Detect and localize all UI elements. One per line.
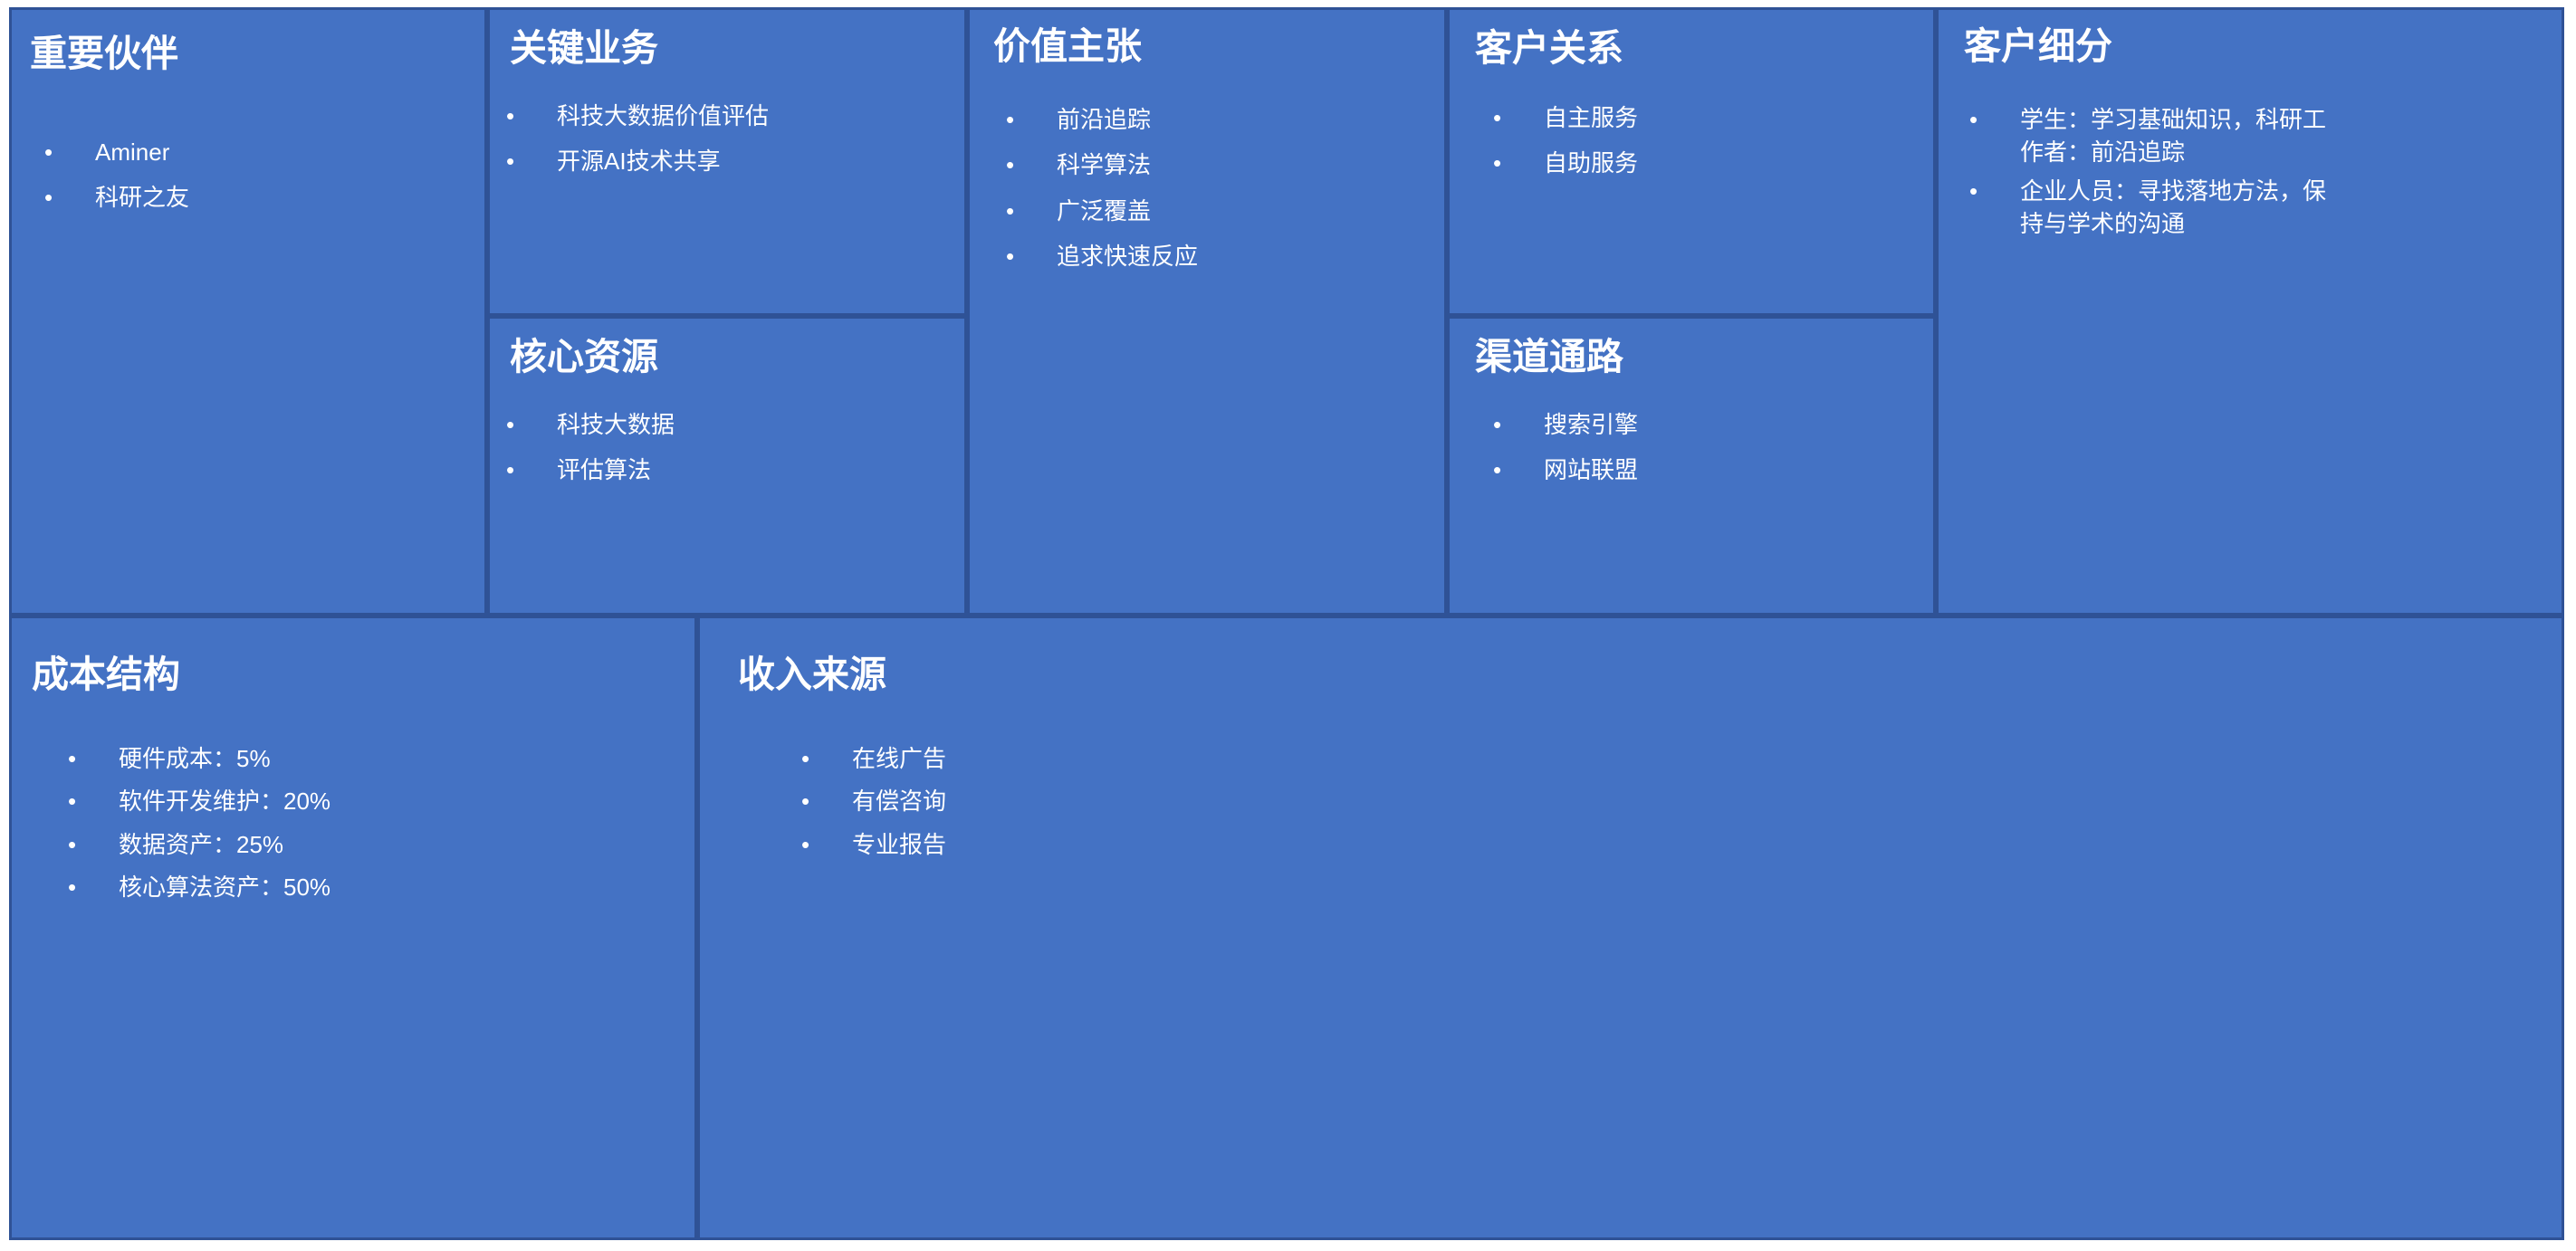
bullet-point-icon: • — [506, 408, 557, 441]
bullet-point-icon: • — [506, 145, 557, 177]
block-channels[interactable]: 渠道通路 • 搜索引擎 • 网站联盟 — [1447, 316, 1936, 616]
list-item-label: 广泛覆盖 — [1057, 195, 1422, 227]
block-key-activities[interactable]: 关键业务 • 科技大数据价值评估 • 开源AI技术共享 — [487, 7, 967, 316]
block-title-customer-segments: 客户细分 — [1964, 26, 2562, 67]
list-item-label: 追求快速反应 — [1057, 240, 1422, 272]
list-item: • 科技大数据价值评估 — [506, 100, 959, 132]
list-item: • 科学算法 — [1006, 148, 1422, 181]
list-item: • 前沿追踪 — [1006, 103, 1422, 136]
list-item: • 追求快速反应 — [1006, 240, 1422, 272]
list-item: • 科技大数据 — [506, 408, 959, 441]
bullet-point-icon: • — [1493, 408, 1544, 441]
bullet-point-icon: • — [68, 828, 119, 861]
list-item: • 评估算法 — [506, 454, 959, 486]
bullet-point-icon: • — [1006, 148, 1057, 181]
list-item-label: 前沿追踪 — [1057, 103, 1422, 136]
list-item-label: 在线广告 — [852, 742, 1381, 775]
list-item-label: 网站联盟 — [1544, 454, 1919, 486]
list-item: • 有偿咨询 — [801, 785, 1381, 817]
list-item-label: 数据资产：25% — [119, 828, 647, 861]
list-item: • 硬件成本：5% — [68, 742, 647, 775]
list-item-label: 科技大数据价值评估 — [557, 100, 959, 132]
list-item-label: 搜索引擎 — [1544, 408, 1919, 441]
bullet-point-icon: • — [68, 785, 119, 817]
bullet-point-icon: • — [1969, 175, 2020, 207]
bullet-list-revenue-streams: • 在线广告 • 有偿咨询 • 专业报告 — [801, 742, 1381, 861]
list-item: • 企业人员：寻找落地方法，保持与学术的沟通 — [1969, 175, 2332, 241]
list-item-label: 硬件成本：5% — [119, 742, 647, 775]
bullet-point-icon: • — [1493, 101, 1544, 134]
block-revenue-streams[interactable]: 收入来源 • 在线广告 • 有偿咨询 • 专业报告 — [697, 616, 2564, 1240]
block-key-resources[interactable]: 核心资源 • 科技大数据 • 评估算法 — [487, 316, 967, 616]
bullet-point-icon: • — [801, 742, 852, 775]
list-item: • 网站联盟 — [1493, 454, 1919, 486]
list-item: • 数据资产：25% — [68, 828, 647, 861]
list-item: • Aminer — [44, 136, 452, 168]
block-title-key-activities: 关键业务 — [510, 28, 964, 69]
list-item: • 在线广告 — [801, 742, 1381, 775]
list-item-label: 科学算法 — [1057, 148, 1422, 181]
list-item-label: 科研之友 — [95, 181, 452, 214]
list-item-label: 自主服务 — [1544, 101, 1919, 134]
bullet-point-icon: • — [506, 100, 557, 132]
list-item-label: 软件开发维护：20% — [119, 785, 647, 817]
list-item-label: 开源AI技术共享 — [557, 145, 959, 177]
list-item: • 自助服务 — [1493, 147, 1919, 179]
bullet-point-icon: • — [1493, 454, 1544, 486]
bullet-list-customer-segments: • 学生：学习基础知识，科研工作者：前沿追踪 • 企业人员：寻找落地方法，保持与… — [1969, 103, 2332, 241]
bullet-point-icon: • — [44, 181, 95, 214]
bullet-list-cost-structure: • 硬件成本：5% • 软件开发维护：20% • 数据资产：25% • 核心算法… — [68, 742, 647, 904]
list-item: • 自主服务 — [1493, 101, 1919, 134]
block-title-key-partners: 重要伙伴 — [30, 33, 484, 74]
list-item: • 科研之友 — [44, 181, 452, 214]
block-title-customer-relationships: 客户关系 — [1475, 28, 1933, 69]
bullet-point-icon: • — [801, 785, 852, 817]
bullet-list-key-partners: • Aminer • 科研之友 — [44, 136, 452, 215]
list-item-label: Aminer — [95, 136, 452, 168]
bullet-point-icon: • — [506, 454, 557, 486]
bullet-point-icon: • — [1006, 103, 1057, 136]
bullet-list-value-propositions: • 前沿追踪 • 科学算法 • 广泛覆盖 • 追求快速反应 — [1006, 103, 1422, 273]
bullet-point-icon: • — [1493, 147, 1544, 179]
block-customer-relationships[interactable]: 客户关系 • 自主服务 • 自助服务 — [1447, 7, 1936, 316]
block-title-revenue-streams: 收入来源 — [738, 654, 2562, 695]
bullet-list-key-resources: • 科技大数据 • 评估算法 — [506, 408, 959, 487]
list-item: • 专业报告 — [801, 828, 1381, 861]
list-item: • 搜索引擎 — [1493, 408, 1919, 441]
bullet-point-icon: • — [1006, 240, 1057, 272]
list-item: • 学生：学习基础知识，科研工作者：前沿追踪 — [1969, 103, 2332, 169]
bullet-list-channels: • 搜索引擎 • 网站联盟 — [1493, 408, 1919, 487]
list-item-label: 企业人员：寻找落地方法，保持与学术的沟通 — [2020, 175, 2332, 241]
block-title-channels: 渠道通路 — [1475, 337, 1933, 377]
list-item-label: 学生：学习基础知识，科研工作者：前沿追踪 — [2020, 103, 2332, 169]
list-item-label: 专业报告 — [852, 828, 1381, 861]
list-item-label: 有偿咨询 — [852, 785, 1381, 817]
list-item: • 核心算法资产：50% — [68, 871, 647, 903]
list-item-label: 科技大数据 — [557, 408, 959, 441]
bullet-point-icon: • — [1969, 103, 2020, 136]
block-value-propositions[interactable]: 价值主张 • 前沿追踪 • 科学算法 • 广泛覆盖 • 追求快速反应 — [967, 7, 1447, 616]
block-title-cost-structure: 成本结构 — [32, 654, 694, 695]
block-title-value-propositions: 价值主张 — [993, 26, 1444, 67]
bullet-point-icon: • — [1006, 195, 1057, 227]
block-customer-segments[interactable]: 客户细分 • 学生：学习基础知识，科研工作者：前沿追踪 • 企业人员：寻找落地方… — [1936, 7, 2564, 616]
bullet-list-customer-relationships: • 自主服务 • 自助服务 — [1493, 101, 1919, 180]
list-item-label: 核心算法资产：50% — [119, 871, 647, 903]
block-title-key-resources: 核心资源 — [510, 337, 964, 377]
bullet-point-icon: • — [68, 871, 119, 903]
bullet-point-icon: • — [44, 136, 95, 168]
list-item: • 广泛覆盖 — [1006, 195, 1422, 227]
block-key-partners[interactable]: 重要伙伴 • Aminer • 科研之友 — [9, 7, 487, 616]
business-model-canvas: 重要伙伴 • Aminer • 科研之友 关键业务 • 科技大数据价值评估 • … — [9, 7, 2564, 1240]
list-item: • 开源AI技术共享 — [506, 145, 959, 177]
list-item-label: 评估算法 — [557, 454, 959, 486]
list-item: • 软件开发维护：20% — [68, 785, 647, 817]
bullet-point-icon: • — [68, 742, 119, 775]
block-cost-structure[interactable]: 成本结构 • 硬件成本：5% • 软件开发维护：20% • 数据资产：25% •… — [9, 616, 697, 1240]
list-item-label: 自助服务 — [1544, 147, 1919, 179]
bullet-point-icon: • — [801, 828, 852, 861]
bullet-list-key-activities: • 科技大数据价值评估 • 开源AI技术共享 — [506, 100, 959, 178]
